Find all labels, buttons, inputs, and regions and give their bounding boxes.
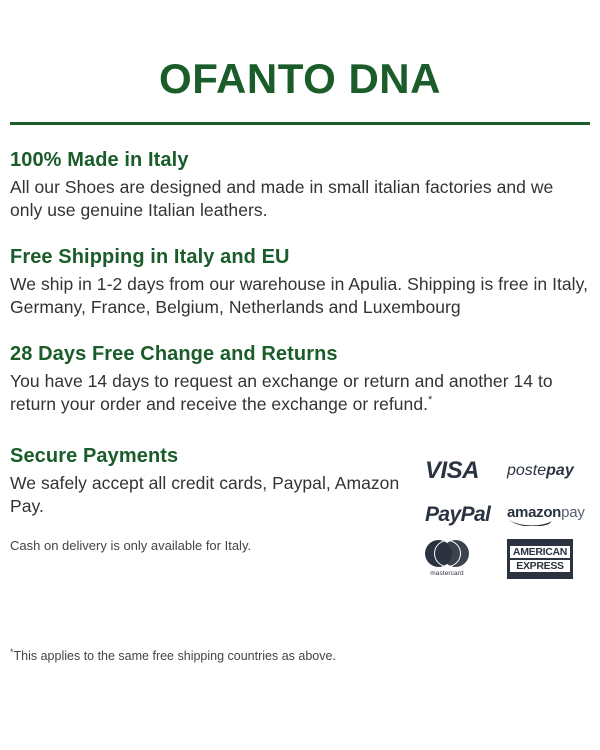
page-title: OFANTO DNA (10, 0, 590, 100)
amex-line-2: EXPRESS (510, 560, 570, 572)
section-free-returns: 28 Days Free Change and Returns You have… (10, 343, 590, 416)
cash-on-delivery-note: Cash on delivery is only available for I… (10, 538, 410, 555)
amazon-pay-icon: amazonpay (507, 505, 585, 525)
postepay-label-light: poste (507, 462, 546, 479)
postepay-label-bold: pay (546, 462, 574, 479)
payment-logo-row: PayPal amazonpay (425, 493, 590, 537)
section-heading: Free Shipping in Italy and EU (10, 246, 590, 269)
mastercard-circles (425, 540, 469, 567)
footnote-marker: * (428, 395, 432, 407)
footnote: *This applies to the same free shipping … (10, 648, 336, 664)
amazon-smile-icon (508, 519, 554, 526)
mastercard-logo-cell: mastercard (425, 537, 507, 581)
paypal-logo-cell: PayPal (425, 493, 507, 537)
amex-line-1: AMERICAN (510, 546, 570, 558)
payment-logo-row: mastercard AMERICAN EXPRESS (425, 537, 590, 581)
mastercard-icon: mastercard (425, 540, 469, 577)
secure-payments-text: Secure Payments We safely accept all cre… (10, 445, 410, 555)
section-body: You have 14 days to request an exchange … (10, 370, 590, 416)
title-divider (10, 122, 590, 125)
payment-logos: VISA postepay PayPal amazonpay m (425, 445, 590, 581)
section-made-in-italy: 100% Made in Italy All our Shoes are des… (10, 149, 590, 222)
section-heading: Secure Payments (10, 445, 410, 468)
postepay-icon: postepay (507, 462, 574, 480)
amazon-pay-label: pay (561, 504, 585, 521)
section-heading: 100% Made in Italy (10, 149, 590, 172)
amazon-pay-logo-cell: amazonpay (507, 493, 590, 537)
section-body: We safely accept all credit cards, Paypa… (10, 472, 410, 518)
visa-icon: VISA (425, 457, 479, 485)
mastercard-label: mastercard (430, 570, 464, 577)
section-free-shipping: Free Shipping in Italy and EU We ship in… (10, 246, 590, 319)
section-body: All our Shoes are designed and made in s… (10, 176, 590, 222)
ofanto-dna-info-panel: OFANTO DNA 100% Made in Italy All our Sh… (0, 0, 600, 750)
postepay-logo-cell: postepay (507, 449, 590, 493)
visa-logo-cell: VISA (425, 449, 507, 493)
section-secure-payments: Secure Payments We safely accept all cre… (10, 445, 590, 581)
amex-icon: AMERICAN EXPRESS (507, 539, 573, 579)
mastercard-circle-overlap (434, 540, 461, 567)
footnote-text: This applies to the same free shipping c… (14, 649, 336, 663)
payment-logo-row: VISA postepay (425, 449, 590, 493)
paypal-icon: PayPal (425, 503, 490, 527)
section-heading: 28 Days Free Change and Returns (10, 343, 590, 366)
section-body-text: You have 14 days to request an exchange … (10, 371, 553, 414)
amex-logo-cell: AMERICAN EXPRESS (507, 537, 590, 581)
section-body: We ship in 1-2 days from our warehouse i… (10, 273, 590, 319)
